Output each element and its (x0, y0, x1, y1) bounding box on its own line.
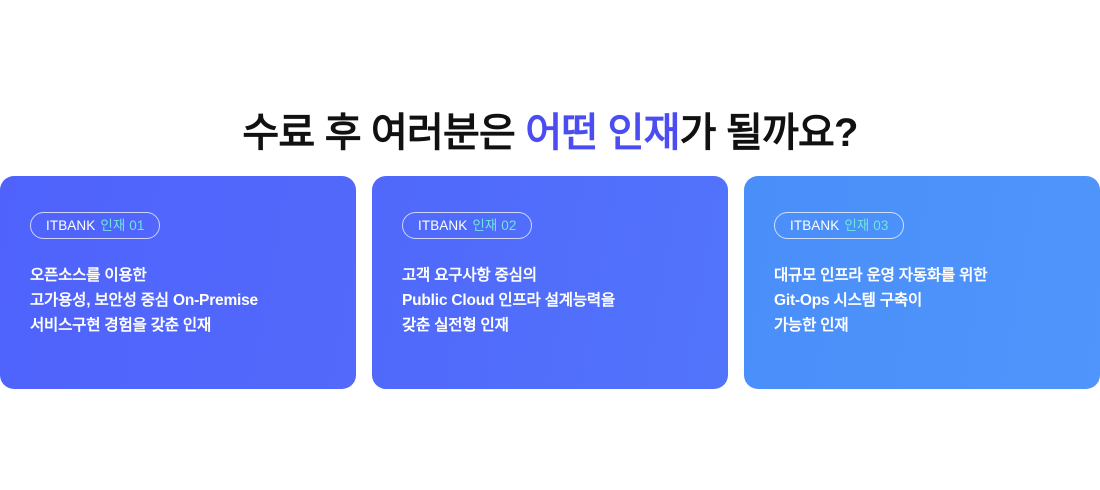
badge-brand-label: ITBANK (790, 219, 839, 233)
badge-number-label: 인재 01 (100, 219, 144, 233)
badge-brand-label: ITBANK (46, 219, 95, 233)
promo-section: 수료 후 여러분은 어떤 인재가 될까요? ITBANK인재 01 오픈소스를 … (0, 0, 1100, 490)
talent-card-description: 고객 요구사항 중심의 Public Cloud 인프라 설계능력을 갖춘 실전… (402, 263, 698, 338)
badge-number-label: 인재 02 (472, 219, 516, 233)
description-line-1: 고객 요구사항 중심의 (402, 263, 698, 288)
description-line-3: 갖춘 실전형 인재 (402, 313, 698, 338)
description-line-2: Git-Ops 시스템 구축이 (774, 288, 1070, 313)
talent-card-03[interactable]: ITBANK인재 03 대규모 인프라 운영 자동화를 위한 Git-Ops 시… (744, 176, 1100, 389)
status-badge: ITBANK인재 03 (774, 212, 904, 239)
page-title-prefix: 수료 후 여러분은 (242, 111, 525, 155)
status-badge: ITBANK인재 02 (402, 212, 532, 239)
description-line-2: 고가용성, 보안성 중심 On-Premise (30, 288, 326, 313)
status-badge: ITBANK인재 01 (30, 212, 160, 239)
talent-card-01[interactable]: ITBANK인재 01 오픈소스를 이용한 고가용성, 보안성 중심 On-Pr… (0, 176, 356, 389)
description-line-1: 대규모 인프라 운영 자동화를 위한 (774, 263, 1070, 288)
badge-number-label: 인재 03 (844, 219, 888, 233)
description-line-2: Public Cloud 인프라 설계능력을 (402, 288, 698, 313)
talent-card-description: 대규모 인프라 운영 자동화를 위한 Git-Ops 시스템 구축이 가능한 인… (774, 263, 1070, 338)
page-title-suffix: 가 될까요? (680, 111, 858, 155)
description-line-3: 서비스구현 경험을 갖춘 인재 (30, 313, 326, 338)
badge-brand-label: ITBANK (418, 219, 467, 233)
page-title: 수료 후 여러분은 어떤 인재가 될까요? (0, 107, 1100, 159)
description-line-1: 오픈소스를 이용한 (30, 263, 326, 288)
talent-card-description: 오픈소스를 이용한 고가용성, 보안성 중심 On-Premise 서비스구현 … (30, 263, 326, 338)
talent-card-02[interactable]: ITBANK인재 02 고객 요구사항 중심의 Public Cloud 인프라… (372, 176, 728, 389)
talent-card-list: ITBANK인재 01 오픈소스를 이용한 고가용성, 보안성 중심 On-Pr… (0, 176, 1100, 389)
page-title-highlight: 어떤 인재 (525, 111, 679, 155)
description-line-3: 가능한 인재 (774, 313, 1070, 338)
